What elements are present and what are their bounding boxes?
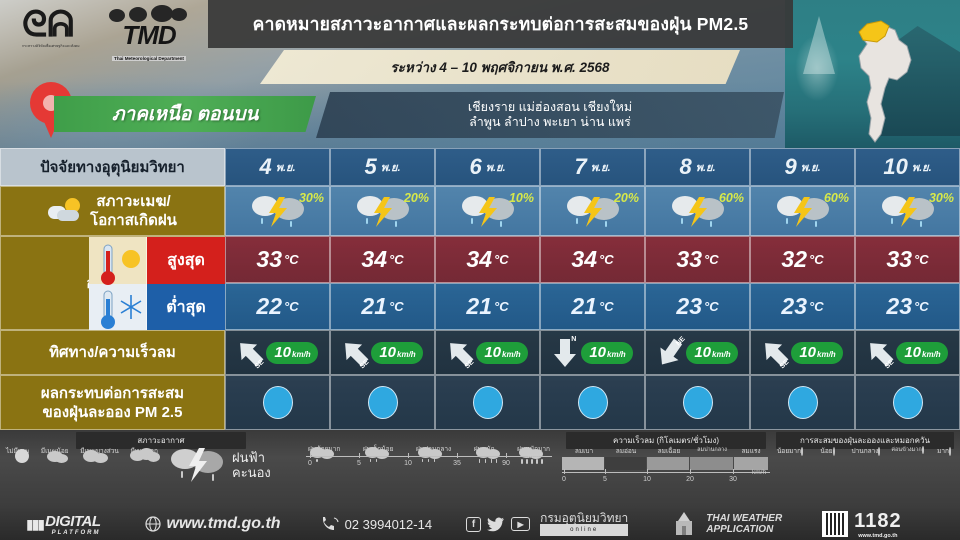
temp-min-cell-3: 21°C xyxy=(540,283,645,330)
phone-number: 02 3994012-14 xyxy=(345,517,432,532)
day-header-1: 5 พ.ย. xyxy=(330,148,435,186)
temp-max-value-4: 33 xyxy=(676,246,702,273)
facebook-icon[interactable]: f xyxy=(466,517,481,532)
day-month-5: พ.ย. xyxy=(801,158,821,176)
temp-min-value-3: 21 xyxy=(571,293,597,320)
infographic-root: ᘓᕱ กระทรวงดิจิทัลเพื่อเศรษฐกิจและสังคม T… xyxy=(0,0,960,540)
wind-speed-pill-2: 10km/h xyxy=(476,342,527,364)
pm25-cell-5 xyxy=(750,375,855,430)
temp-max-cell-1: 34°C xyxy=(330,236,435,283)
day-month-0: พ.ย. xyxy=(276,158,296,176)
legend-sky-items: ไม่มีเมฆ มีเมฆน้อย มีเมฆบางส่วน xyxy=(6,446,158,456)
day-month-1: พ.ย. xyxy=(381,158,401,176)
legend-storm-line1: ฝนฟ้า xyxy=(232,450,271,465)
tmd-logo-text: TMD xyxy=(95,23,203,47)
legend-sky-item-0: ไม่มีเมฆ xyxy=(6,446,29,456)
app-label: THAI WEATHER APPLICATION xyxy=(706,513,782,535)
thunderstorm-icon xyxy=(564,191,622,231)
legend-pm-item-0: น้อยมาก xyxy=(772,446,808,456)
wind-cell-0: SE 10km/h xyxy=(225,330,330,375)
day-number-6: 10 xyxy=(883,154,907,180)
legend-pm-items: น้อยมาก น้อย ปานกลาง ค่อนข้างมาก มาก xyxy=(772,446,958,456)
thunderstorm-legend-icon xyxy=(168,444,226,486)
sky-cell-0: 30% xyxy=(225,186,330,236)
wind-arrow-icon-5: SE xyxy=(762,338,788,368)
temp-min-label: ต่ำสุด xyxy=(147,284,225,331)
pm25-cell-0 xyxy=(225,375,330,430)
day-header-5: 9 พ.ย. xyxy=(750,148,855,186)
legend-pm-item-2: ปานกลาง xyxy=(847,446,885,456)
pm25-indicator-4 xyxy=(683,386,713,419)
legend-storm-line2: คะนอง xyxy=(232,465,271,480)
wind-speed-2: 10 xyxy=(484,344,501,361)
legend-storm: ฝนฟ้า คะนอง xyxy=(168,444,298,486)
day-number-5: 9 xyxy=(784,154,796,180)
row-label-temperature: อุณหภูมิ สูงสุด xyxy=(0,236,225,330)
hotline-block: 1182 www.tmd.go.th xyxy=(822,510,901,539)
website-text: www.tmd.go.th xyxy=(167,515,281,533)
rain-chance-6: 30% xyxy=(929,191,954,205)
day-header-6: 10 พ.ย. xyxy=(855,148,960,186)
row-label-sky-line1: สภาวะเมฆ/ xyxy=(90,192,177,211)
pm25-cell-6 xyxy=(855,375,960,430)
legend-pm-item-3: ค่อนข้างมาก xyxy=(888,446,928,456)
temp-min-value-5: 23 xyxy=(781,293,807,320)
legend-rain-scale: ฝนน้อยมาก ฝนเล็กน้อย ฝนปานกลาง xyxy=(306,444,552,470)
rain-chance-0: 30% xyxy=(299,191,324,205)
thunderstorm-icon xyxy=(249,191,307,231)
row-label-pm25-line2: ของฝุ่นละออง PM 2.5 xyxy=(41,403,184,422)
wind-speed-pill-5: 10km/h xyxy=(791,342,842,364)
thailand-map-icon xyxy=(837,18,923,146)
globe-icon xyxy=(145,516,161,532)
temp-max-value-6: 33 xyxy=(886,246,912,273)
temp-min-value-6: 23 xyxy=(886,293,912,320)
legend-rain-item-3: ฝนหนัก xyxy=(474,444,495,454)
date-range-banner: ระหว่าง 4 – 10 พฤศจิกายน พ.ศ. 2568 xyxy=(260,50,740,84)
wind-speed-pill-4: 10km/h xyxy=(686,342,737,364)
row-label-factors: ปัจจัยทางอุตุนิยมวิทยา xyxy=(0,148,225,186)
temp-max-cell-2: 34°C xyxy=(435,236,540,283)
dept-online-label: กรมอุตุนิยมวิทยา online xyxy=(540,512,628,536)
pm-level-icon-2 xyxy=(878,447,880,456)
pm-level-icon-0 xyxy=(801,447,803,456)
header-band: ᘓᕱ กระทรวงดิจิทัลเพื่อเศรษฐกิจและสังคม T… xyxy=(0,0,960,148)
region-banner: ภาคเหนือ ตอนบน xyxy=(54,96,316,132)
social-links[interactable]: f ▶ กรมอุตุนิยมวิทยา online xyxy=(466,512,628,536)
legend-rain-axis: 0 5 10 35 90 mm xyxy=(306,456,552,470)
legend-rain-items: ฝนน้อยมาก ฝนเล็กน้อย ฝนปานกลาง xyxy=(306,444,552,454)
temp-min-value-4: 23 xyxy=(676,293,702,320)
region-name: ภาคเหนือ ตอนบน xyxy=(112,99,258,129)
pm25-cell-4 xyxy=(645,375,750,430)
row-label-pm25-line1: ผลกระทบต่อการสะสม xyxy=(41,384,184,403)
sky-cell-3: 20% xyxy=(540,186,645,236)
day-month-3: พ.ย. xyxy=(591,158,611,176)
temp-min-cell-6: 23°C xyxy=(855,283,960,330)
thermometer-icons xyxy=(89,237,147,331)
wind-speed-pill-6: 10km/h xyxy=(896,342,947,364)
pm25-indicator-5 xyxy=(788,386,818,419)
legend-sky-item-3: มีเมฆมาก xyxy=(130,446,158,456)
temp-max-label: สูงสุด xyxy=(147,237,225,284)
phone-contact: 02 3994012-14 xyxy=(321,516,432,532)
wind-speed-pill-0: 10km/h xyxy=(266,342,317,364)
temp-min-cell-2: 21°C xyxy=(435,283,540,330)
thunderstorm-icon xyxy=(354,191,412,231)
temp-max-value-3: 34 xyxy=(571,246,597,273)
pm25-indicator-2 xyxy=(473,386,503,419)
day-number-2: 6 xyxy=(469,154,481,180)
province-line-1: เชียงราย แม่ฮ่องสอน เชียงใหม่ xyxy=(468,100,632,115)
legend-wind-bars xyxy=(562,457,770,470)
day-month-2: พ.ย. xyxy=(486,158,506,176)
tmd-logo-clouds-icon xyxy=(95,5,203,23)
page-title-text: คาดหมายสภาวะอากาศและผลกระทบต่อการสะสมของ… xyxy=(253,10,749,38)
wind-speed-3: 10 xyxy=(589,344,606,361)
hotline-number: 1182 www.tmd.go.th xyxy=(854,510,901,539)
ministry-logo: ᘓᕱ กระทรวงดิจิทัลเพื่อเศรษฐกิจและสังคม xyxy=(22,6,82,58)
pm-level-icon-3 xyxy=(922,446,924,454)
legend-pm-item-1: น้อย xyxy=(811,446,845,456)
thunderstorm-icon xyxy=(774,191,832,231)
temp-max-cell-4: 33°C xyxy=(645,236,750,283)
footer-bar: ▮▮▮ DIGITAL PLATFORM www.tmd.go.th 02 39… xyxy=(0,508,960,540)
pm25-cell-2 xyxy=(435,375,540,430)
temp-min-value-0: 22 xyxy=(256,293,282,320)
legend-sky-item-2: มีเมฆบางส่วน xyxy=(80,446,119,456)
wind-arrow-icon-2: SE xyxy=(447,338,473,368)
wind-arrow-icon-1: SE xyxy=(342,338,368,368)
phone-icon xyxy=(321,516,339,532)
day-header-4: 8 พ.ย. xyxy=(645,148,750,186)
sky-cell-1: 20% xyxy=(330,186,435,236)
rain-chance-2: 10% xyxy=(509,191,534,205)
wind-cell-3: N 10km/h xyxy=(540,330,645,375)
temp-max-value-5: 32 xyxy=(781,246,807,273)
thunderstorm-icon xyxy=(669,191,727,231)
tmd-logo: TMD Thai Meteorological Department xyxy=(95,5,203,57)
pm25-indicator-3 xyxy=(578,386,608,419)
digital-platform-logo: ▮▮▮ DIGITAL PLATFORM xyxy=(26,513,101,536)
temp-max-cell-6: 33°C xyxy=(855,236,960,283)
qr-code-icon[interactable] xyxy=(822,511,848,537)
wind-speed-1: 10 xyxy=(379,344,396,361)
wind-speed-pill-1: 10km/h xyxy=(371,342,422,364)
wind-arrow-icon-6: SE xyxy=(867,338,893,368)
day-number-0: 4 xyxy=(259,154,271,180)
wind-speed-5: 10 xyxy=(799,344,816,361)
sky-cell-5: 60% xyxy=(750,186,855,236)
legend-sky-item-1: มีเมฆน้อย xyxy=(41,446,69,456)
wind-cell-1: SE 10km/h xyxy=(330,330,435,375)
legend-wind-unit: km/h xyxy=(752,469,766,476)
header-map-panel xyxy=(785,0,960,148)
row-label-sky: สภาวะเมฆ/ โอกาสเกิดฝน xyxy=(0,186,225,236)
rain-chance-4: 60% xyxy=(719,191,744,205)
day-month-6: พ.ย. xyxy=(912,158,932,176)
day-header-3: 7 พ.ย. xyxy=(540,148,645,186)
day-number-1: 5 xyxy=(364,154,376,180)
wind-arrow-icon-0: SE xyxy=(237,338,263,368)
temp-min-cell-5: 23°C xyxy=(750,283,855,330)
twitter-icon[interactable] xyxy=(487,517,505,532)
temp-max-cell-5: 32°C xyxy=(750,236,855,283)
partly-cloudy-icon xyxy=(48,197,82,225)
tmd-logo-subtext: Thai Meteorological Department xyxy=(112,56,186,61)
thermometer-sun-snow-icon xyxy=(89,237,147,331)
sky-cell-6: 30% xyxy=(855,186,960,236)
temp-max-value-2: 34 xyxy=(466,246,492,273)
wind-cell-5: SE 10km/h xyxy=(750,330,855,375)
ministry-logo-mark: ᘓᕱ xyxy=(22,6,82,42)
pm25-cell-3 xyxy=(540,375,645,430)
temp-max-value-1: 34 xyxy=(361,246,387,273)
youtube-icon[interactable]: ▶ xyxy=(511,517,530,531)
day-month-4: พ.ย. xyxy=(696,158,716,176)
app-temple-icon xyxy=(670,511,698,537)
temp-max-value-0: 33 xyxy=(256,246,282,273)
legend-wind-items: ลมเบา ลมอ่อน ลมเฉื่อย ลมปานกลาง ลมแรง xyxy=(562,446,770,457)
legend-rain-item-0: ฝนน้อยมาก xyxy=(308,444,340,454)
thai-weather-app: THAI WEATHER APPLICATION xyxy=(670,511,782,537)
wind-speed-pill-3: 10km/h xyxy=(581,342,632,364)
forecast-table: ปัจจัยทางอุตุนิยมวิทยา 4 พ.ย. 5 พ.ย. 6 พ… xyxy=(0,148,960,430)
sky-cell-2: 10% xyxy=(435,186,540,236)
legend-rain-item-2: ฝนปานกลาง xyxy=(416,444,451,454)
temp-max-cell-0: 33°C xyxy=(225,236,330,283)
temp-max-cell-3: 34°C xyxy=(540,236,645,283)
date-range-text: ระหว่าง 4 – 10 พฤศจิกายน พ.ศ. 2568 xyxy=(390,56,609,78)
day-number-3: 7 xyxy=(574,154,586,180)
pm25-indicator-0 xyxy=(263,386,293,419)
wind-cell-6: SE 10km/h xyxy=(855,330,960,375)
pm25-indicator-6 xyxy=(893,386,923,419)
temp-min-cell-4: 23°C xyxy=(645,283,750,330)
temp-min-value-2: 21 xyxy=(466,293,492,320)
thunderstorm-icon xyxy=(879,191,937,231)
rain-chance-1: 20% xyxy=(404,191,429,205)
legend-bar: สภาวะอากาศ ไม่มีเมฆ มีเมฆน้อย xyxy=(0,430,960,508)
row-label-pm25: ผลกระทบต่อการสะสม ของฝุ่นละออง PM 2.5 xyxy=(0,375,225,430)
wind-arrow-icon-3: N xyxy=(552,338,578,368)
wind-arrow-icon-4: NE xyxy=(657,338,683,368)
website-link[interactable]: www.tmd.go.th xyxy=(145,515,281,533)
rain-chance-3: 20% xyxy=(614,191,639,205)
sky-cell-4: 60% xyxy=(645,186,750,236)
pm-level-icon-4 xyxy=(949,447,951,456)
province-list: เชียงราย แม่ฮ่องสอน เชียงใหม่ ลำพูน ลำปา… xyxy=(316,92,784,138)
row-label-wind: ทิศทาง/ความเร็วลม xyxy=(0,330,225,375)
pm-level-icon-1 xyxy=(833,447,835,456)
day-header-2: 6 พ.ย. xyxy=(435,148,540,186)
legend-rain-unit: mm xyxy=(528,453,539,460)
legend-pm-item-4: มาก xyxy=(930,446,958,456)
legend-wind-axis: 0 5 10 20 30 km/h xyxy=(562,472,770,486)
wind-speed-0: 10 xyxy=(274,344,291,361)
legend-rain-item-1: ฝนเล็กน้อย xyxy=(363,444,394,454)
temp-min-cell-0: 22°C xyxy=(225,283,330,330)
wind-dir-3: N xyxy=(571,336,576,343)
ministry-logo-caption: กระทรวงดิจิทัลเพื่อเศรษฐกิจและสังคม xyxy=(22,44,82,49)
thunderstorm-icon xyxy=(459,191,517,231)
temp-min-cell-1: 21°C xyxy=(330,283,435,330)
wind-cell-4: NE 10km/h xyxy=(645,330,750,375)
temp-min-value-1: 21 xyxy=(361,293,387,320)
legend-wind-scale: ลมเบา ลมอ่อน ลมเฉื่อย ลมปานกลาง ลมแรง 0 … xyxy=(562,446,770,486)
bars-icon: ▮▮▮ xyxy=(26,516,43,533)
province-line-2: ลำพูน ลำปาง พะเยา น่าน แพร่ xyxy=(469,115,631,130)
pm25-cell-1 xyxy=(330,375,435,430)
digital-platform-text: DIGITAL PLATFORM xyxy=(45,513,100,536)
rain-chance-5: 60% xyxy=(824,191,849,205)
row-label-sky-line2: โอกาสเกิดฝน xyxy=(90,211,177,230)
wind-speed-4: 10 xyxy=(694,344,711,361)
wind-speed-6: 10 xyxy=(904,344,921,361)
day-header-0: 4 พ.ย. xyxy=(225,148,330,186)
page-title: คาดหมายสภาวะอากาศและผลกระทบต่อการสะสมของ… xyxy=(208,0,793,48)
pm25-indicator-1 xyxy=(368,386,398,419)
wind-cell-2: SE 10km/h xyxy=(435,330,540,375)
day-number-4: 8 xyxy=(679,154,691,180)
